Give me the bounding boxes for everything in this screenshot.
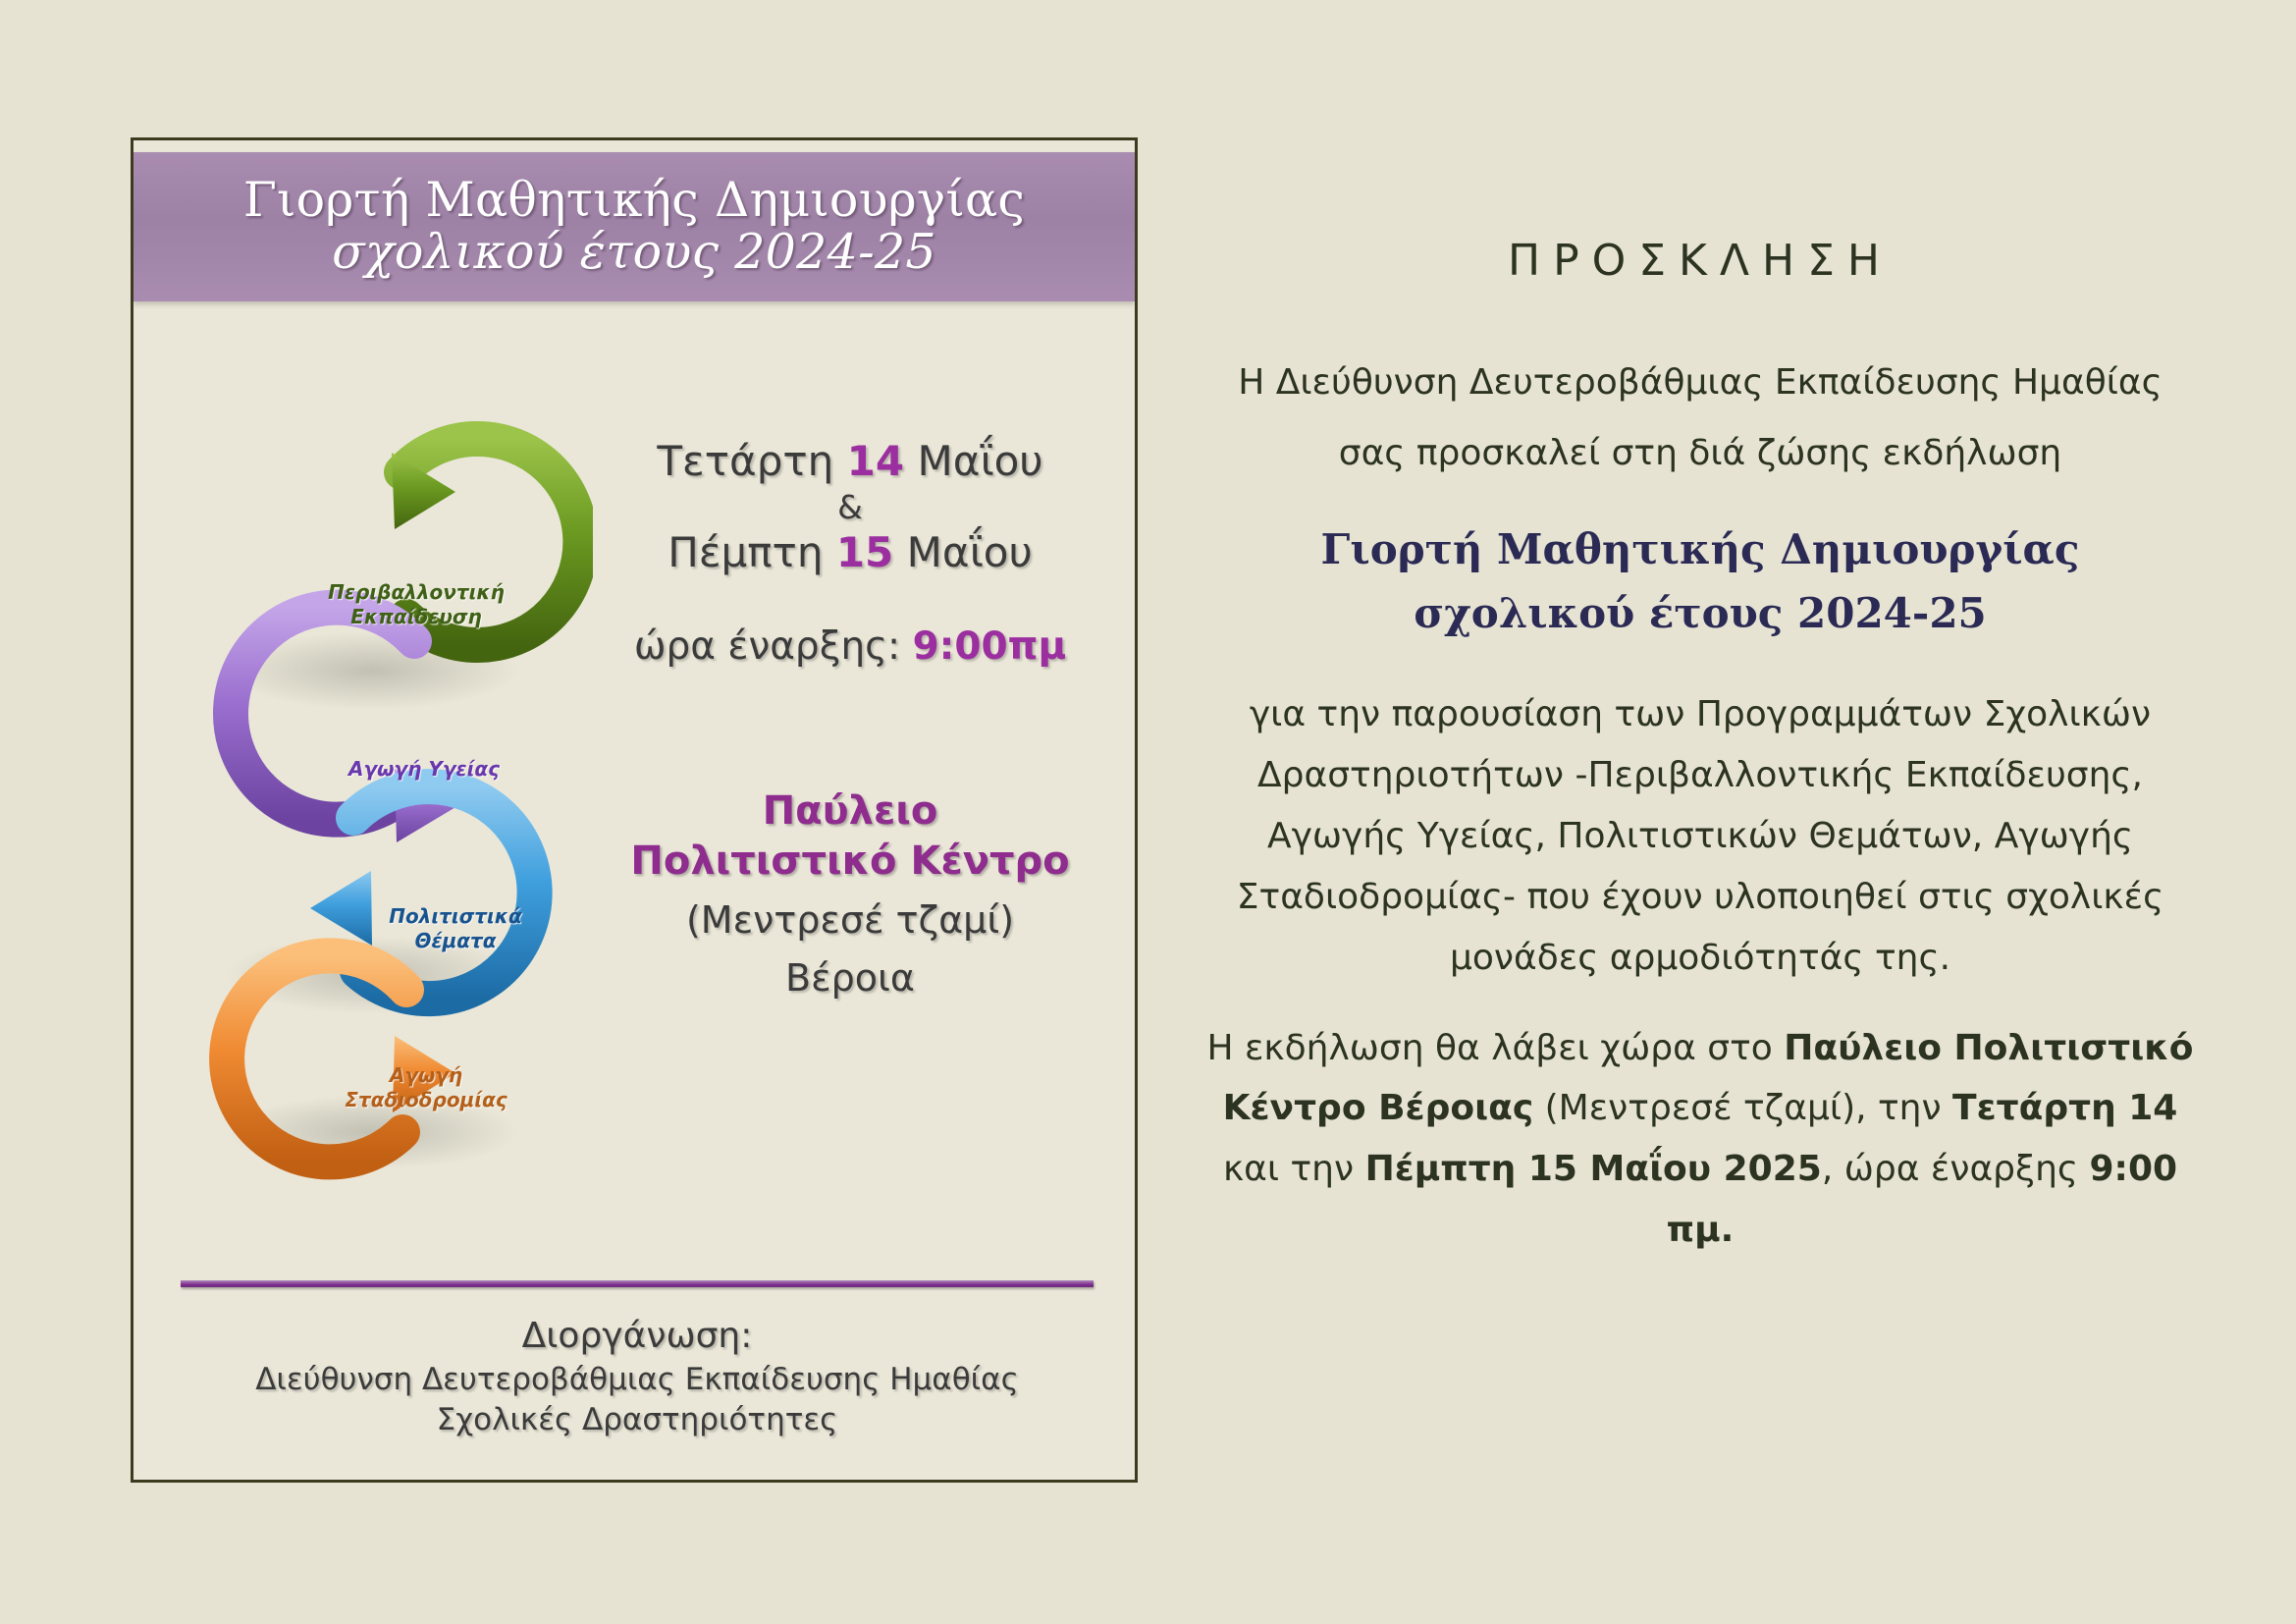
poster-venue: Παύλειο Πολιτιστικό Κέντρο (Μεντρεσέ τζα… <box>585 786 1115 1003</box>
invitation-intro-line2: σας προσκαλεί στη διά ζώσης εκδήλωση <box>1193 423 2208 484</box>
poster-column: Γιορτή Μαθητικής Δημιουργίας σχολικού έτ… <box>0 0 1153 1624</box>
invitation-event-title-line1: Γιορτή Μαθητικής Δημιουργίας <box>1193 517 2208 581</box>
invitation-heading: ΠΡΟΣΚΛΗΣΗ <box>1193 236 2208 286</box>
poster-date-line2: Πέμπτη 15 Μαΐου <box>585 526 1115 580</box>
closing-seg7: , ώρα έναρξης <box>1822 1149 2090 1189</box>
diagram-label-cultural-line2: Θέματα <box>414 929 496 952</box>
closing-seg5: και την <box>1223 1149 1365 1189</box>
invitation-closing: Η εκδήλωση θα λάβει χώρα στο Παύλειο Πολ… <box>1193 1018 2208 1262</box>
organizer-department: Σχολικές Δραστηριότητες <box>173 1400 1101 1440</box>
diagram-label-environmental: Περιβαλλοντική Εκπαίδευση <box>308 580 524 629</box>
diagram-label-career: Αγωγή Σταδιοδρομίας <box>313 1063 539 1112</box>
organizer-name: Διεύθυνση Δευτεροβάθμιας Εκπαίδευσης Ημα… <box>173 1360 1101 1400</box>
invitation-event-title: Γιορτή Μαθητικής Δημιουργίας σχολικού έτ… <box>1193 517 2208 645</box>
invitation-page: Γιορτή Μαθητικής Δημιουργίας σχολικού έτ… <box>0 0 2296 1624</box>
diagram-label-career-line1: Αγωγή <box>390 1063 462 1087</box>
invitation-intro-line1: Η Διεύθυνση Δευτεροβάθμιας Εκπαίδευσης Η… <box>1193 352 2208 413</box>
venue-line4: Βέροια <box>585 953 1115 1003</box>
date1-suffix: Μαΐου <box>904 437 1042 485</box>
poster-card: Γιορτή Μαθητικής Δημιουργίας σχολικού έτ… <box>131 137 1138 1483</box>
closing-seg1: Η εκδήλωση θα λάβει χώρα στο <box>1206 1028 1784 1068</box>
venue-line2: Πολιτιστικό Κέντρο <box>585 837 1115 887</box>
poster-title-line2: σχολικού έτους 2024-25 <box>332 226 936 280</box>
poster-divider <box>181 1280 1094 1287</box>
date-separator: & <box>585 489 1115 526</box>
closing-seg3: (Μεντρεσέ τζαμί), την <box>1533 1088 1952 1128</box>
date2-number: 15 <box>836 528 893 576</box>
invitation-event-title-line2: σχολικού έτους 2024-25 <box>1193 581 2208 645</box>
date1-number: 14 <box>847 437 904 485</box>
start-time-value: 9:00πμ <box>913 624 1067 669</box>
invitation-column: ΠΡΟΣΚΛΗΣΗ Η Διεύθυνση Δευτεροβάθμιας Εκπ… <box>1153 0 2296 1624</box>
diagram-label-health: Αγωγή Υγείας <box>306 757 542 782</box>
invitation-body: για την παρουσίαση των Προγραμμάτων Σχολ… <box>1193 684 2208 989</box>
closing-date2-bold: Πέμπτη 15 Μαΐου 2025 <box>1365 1149 1822 1189</box>
poster-start-time: ώρα έναρξης: 9:00πμ <box>585 624 1115 669</box>
diagram-label-cultural: Πολιτιστικά Θέματα <box>357 904 554 953</box>
cycle-diagram: Περιβαλλοντική Εκπαίδευση Αγωγή Υγείας Π… <box>161 347 593 1181</box>
poster-details: Τετάρτη 14 Μαΐου & Πέμπτη 15 Μαΐου ώρα έ… <box>585 435 1115 1003</box>
diagram-label-environmental-line2: Εκπαίδευση <box>350 605 481 628</box>
venue-line3: (Μεντρεσέ τζαμί) <box>585 895 1115 946</box>
diagram-label-cultural-line1: Πολιτιστικά <box>389 904 522 928</box>
diagram-label-health-line1: Αγωγή Υγείας <box>348 757 500 781</box>
venue-line1: Παύλειο <box>585 786 1115 837</box>
diagram-label-career-line2: Σταδιοδρομίας <box>345 1088 507 1111</box>
date2-prefix: Πέμπτη <box>667 528 836 576</box>
date1-prefix: Τετάρτη <box>657 437 846 485</box>
start-time-label: ώρα έναρξης: <box>634 624 913 669</box>
closing-date1-bold: Τετάρτη 14 <box>1952 1088 2177 1128</box>
poster-footer: Διοργάνωση: Διεύθυνση Δευτεροβάθμιας Εκπ… <box>173 1313 1101 1440</box>
date2-suffix: Μαΐου <box>893 528 1032 576</box>
poster-title-banner: Γιορτή Μαθητικής Δημιουργίας σχολικού έτ… <box>133 152 1135 301</box>
diagram-label-environmental-line1: Περιβαλλοντική <box>328 580 505 604</box>
poster-date-line1: Τετάρτη 14 Μαΐου <box>585 435 1115 489</box>
poster-title-line1: Γιορτή Μαθητικής Δημιουργίας <box>243 175 1025 226</box>
organizer-label: Διοργάνωση: <box>173 1313 1101 1361</box>
